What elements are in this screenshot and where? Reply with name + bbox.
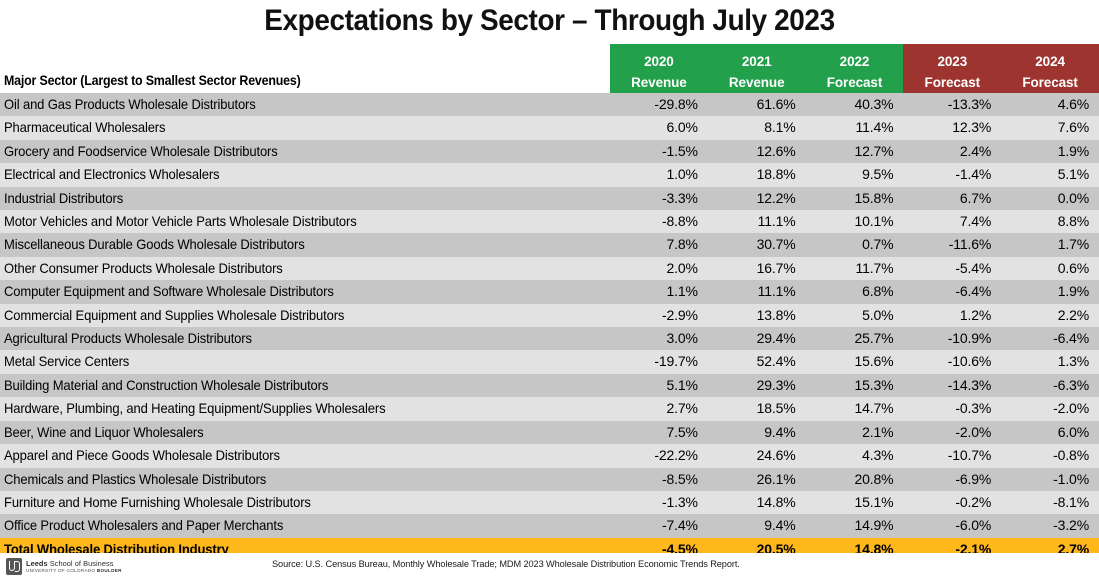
sector-label: Other Consumer Products Wholesale Distri… [4,257,283,280]
table-row: Furniture and Home Furnishing Wholesale … [0,491,1099,514]
sector-label: Oil and Gas Products Wholesale Distribut… [4,93,256,116]
cell-value-2024: 5.1% [1001,163,1099,186]
cu-buffalo-mark-icon [6,558,22,575]
sector-label: Building Material and Construction Whole… [4,374,328,397]
cell-sector-name: Grocery and Foodservice Wholesale Distri… [0,140,610,163]
table-row: Apparel and Piece Goods Wholesale Distri… [0,444,1099,467]
cell-value-2020: -22.2% [610,444,708,467]
sector-label: Miscellaneous Durable Goods Wholesale Di… [4,233,305,256]
column-header-2024-forecast: 2024 Forecast [1001,44,1099,93]
cell-value-2020: -1.3% [610,491,708,514]
table-row: Office Product Wholesalers and Paper Mer… [0,514,1099,537]
sector-label: Furniture and Home Furnishing Wholesale … [4,491,311,514]
cell-value-2023: -2.0% [903,421,1001,444]
cell-value-2022: 10.1% [806,210,904,233]
logo-school-rest: School of Business [48,559,114,568]
cell-value-2024: 6.0% [1001,421,1099,444]
cell-value-2020: -19.7% [610,350,708,373]
cell-sector-name: Hardware, Plumbing, and Heating Equipmen… [0,397,610,420]
cell-sector-name: Chemicals and Plastics Wholesale Distrib… [0,468,610,491]
cell-value-2024: 1.9% [1001,280,1099,303]
cell-value-2024: -2.0% [1001,397,1099,420]
cell-value-2022: 11.4% [806,116,904,139]
cell-value-2023: -6.9% [903,468,1001,491]
cell-value-2023: -13.3% [903,93,1001,116]
cell-value-2022: 25.7% [806,327,904,350]
cell-value-2024: -6.3% [1001,374,1099,397]
cell-value-2023: -1.4% [903,163,1001,186]
cell-value-2021: 13.8% [708,304,806,327]
logo-text: Leeds School of Business UNIVERSITY OF C… [26,560,122,574]
cell-value-2021: 24.6% [708,444,806,467]
column-header-sector: Major Sector (Largest to Smallest Sector… [0,44,610,93]
cell-value-2020: -7.4% [610,514,708,537]
cell-value-2023: -14.3% [903,374,1001,397]
cell-value-2022: 11.7% [806,257,904,280]
cell-sector-name: Agricultural Products Wholesale Distribu… [0,327,610,350]
sector-label: Computer Equipment and Software Wholesal… [4,280,334,303]
sector-label: Motor Vehicles and Motor Vehicle Parts W… [4,210,357,233]
cell-value-2024: 2.2% [1001,304,1099,327]
cell-value-2024: 4.6% [1001,93,1099,116]
cell-value-2020: -2.9% [610,304,708,327]
cell-sector-name: Pharmaceutical Wholesalers [0,116,610,139]
cell-value-2021: 18.5% [708,397,806,420]
header-row: Major Sector (Largest to Smallest Sector… [0,44,1099,93]
cell-sector-name: Other Consumer Products Wholesale Distri… [0,257,610,280]
logo-university-pre: UNIVERSITY OF COLORADO [26,568,97,573]
cell-sector-name: Miscellaneous Durable Goods Wholesale Di… [0,233,610,256]
table-row: Building Material and Construction Whole… [0,374,1099,397]
sector-label: Beer, Wine and Liquor Wholesalers [4,421,203,444]
table-row: Other Consumer Products Wholesale Distri… [0,257,1099,280]
cell-sector-name: Building Material and Construction Whole… [0,374,610,397]
logo-school-name: Leeds School of Business [26,560,122,567]
cell-value-2023: 1.2% [903,304,1001,327]
table-row: Pharmaceutical Wholesalers6.0%8.1%11.4%1… [0,116,1099,139]
cell-sector-name: Industrial Distributors [0,187,610,210]
sector-label: Industrial Distributors [4,187,123,210]
cell-value-2022: 15.3% [806,374,904,397]
cell-value-2020: -3.3% [610,187,708,210]
cell-value-2022: 12.7% [806,140,904,163]
cell-value-2022: 6.8% [806,280,904,303]
sector-label: Grocery and Foodservice Wholesale Distri… [4,140,278,163]
cell-value-2020: 3.0% [610,327,708,350]
cell-sector-name: Beer, Wine and Liquor Wholesalers [0,421,610,444]
column-header-2020-revenue: 2020 Revenue [610,44,708,93]
cell-value-2021: 9.4% [708,514,806,537]
cell-value-2021: 30.7% [708,233,806,256]
cell-value-2020: 1.0% [610,163,708,186]
column-header-2021-revenue: 2021 Revenue [708,44,806,93]
cell-value-2023: -0.3% [903,397,1001,420]
leeds-school-logo: Leeds School of Business UNIVERSITY OF C… [6,556,122,577]
column-header-2023-forecast: 2023 Forecast [903,44,1001,93]
sector-label: Office Product Wholesalers and Paper Mer… [4,514,283,537]
table-row: Metal Service Centers-19.7%52.4%15.6%-10… [0,350,1099,373]
cell-value-2024: -6.4% [1001,327,1099,350]
sector-label: Commercial Equipment and Supplies Wholes… [4,304,344,327]
cell-value-2020: -8.8% [610,210,708,233]
table-row: Agricultural Products Wholesale Distribu… [0,327,1099,350]
cell-value-2022: 40.3% [806,93,904,116]
sector-label: Pharmaceutical Wholesalers [4,116,165,139]
cell-value-2024: 1.7% [1001,233,1099,256]
page-title: Expectations by Sector – Through July 20… [38,2,1060,40]
cell-value-2024: 1.3% [1001,350,1099,373]
cell-value-2022: 20.8% [806,468,904,491]
cell-value-2023: -10.6% [903,350,1001,373]
table-row: Electrical and Electronics Wholesalers1.… [0,163,1099,186]
cell-sector-name: Metal Service Centers [0,350,610,373]
cell-sector-name: Office Product Wholesalers and Paper Mer… [0,514,610,537]
cell-value-2021: 11.1% [708,280,806,303]
cell-value-2021: 18.8% [708,163,806,186]
cell-value-2022: 2.1% [806,421,904,444]
cell-value-2024: -1.0% [1001,468,1099,491]
cell-value-2020: -1.5% [610,140,708,163]
cell-value-2021: 29.4% [708,327,806,350]
table-header: Major Sector (Largest to Smallest Sector… [0,44,1099,93]
cell-sector-name: Commercial Equipment and Supplies Wholes… [0,304,610,327]
cell-value-2023: 7.4% [903,210,1001,233]
cell-value-2023: 6.7% [903,187,1001,210]
cell-value-2020: -29.8% [610,93,708,116]
cell-value-2024: 7.6% [1001,116,1099,139]
cell-value-2020: -8.5% [610,468,708,491]
cell-value-2021: 16.7% [708,257,806,280]
cell-value-2024: -3.2% [1001,514,1099,537]
slide-footer: Leeds School of Business UNIVERSITY OF C… [0,553,1099,579]
cell-value-2023: -10.9% [903,327,1001,350]
cell-value-2021: 14.8% [708,491,806,514]
table-row: Motor Vehicles and Motor Vehicle Parts W… [0,210,1099,233]
cell-value-2020: 5.1% [610,374,708,397]
cell-value-2023: 12.3% [903,116,1001,139]
cell-value-2020: 2.0% [610,257,708,280]
cell-value-2023: -0.2% [903,491,1001,514]
table-row: Beer, Wine and Liquor Wholesalers7.5%9.4… [0,421,1099,444]
cell-value-2021: 52.4% [708,350,806,373]
cell-value-2021: 26.1% [708,468,806,491]
table-row: Computer Equipment and Software Wholesal… [0,280,1099,303]
cell-sector-name: Oil and Gas Products Wholesale Distribut… [0,93,610,116]
table-row: Oil and Gas Products Wholesale Distribut… [0,93,1099,116]
cell-value-2023: -10.7% [903,444,1001,467]
cell-value-2020: 6.0% [610,116,708,139]
cell-value-2021: 9.4% [708,421,806,444]
cell-value-2022: 4.3% [806,444,904,467]
cell-value-2023: -5.4% [903,257,1001,280]
cell-value-2022: 14.9% [806,514,904,537]
logo-leeds-word: Leeds [26,559,48,568]
column-header-2022-forecast: 2022 Forecast [806,44,904,93]
cell-value-2023: -11.6% [903,233,1001,256]
cell-sector-name: Motor Vehicles and Motor Vehicle Parts W… [0,210,610,233]
cell-value-2022: 15.1% [806,491,904,514]
cell-value-2023: -6.4% [903,280,1001,303]
cell-sector-name: Computer Equipment and Software Wholesal… [0,280,610,303]
cell-value-2022: 5.0% [806,304,904,327]
cell-value-2023: -6.0% [903,514,1001,537]
source-note: Source: U.S. Census Bureau, Monthly Whol… [272,559,740,570]
cell-sector-name: Electrical and Electronics Wholesalers [0,163,610,186]
cell-value-2022: 0.7% [806,233,904,256]
cell-value-2021: 29.3% [708,374,806,397]
cell-value-2024: 0.6% [1001,257,1099,280]
sector-label: Hardware, Plumbing, and Heating Equipmen… [4,397,385,420]
cell-value-2020: 2.7% [610,397,708,420]
cell-value-2022: 14.7% [806,397,904,420]
table-body: Oil and Gas Products Wholesale Distribut… [0,93,1099,561]
cell-value-2021: 12.6% [708,140,806,163]
sector-label: Chemicals and Plastics Wholesale Distrib… [4,468,266,491]
cell-value-2024: 1.9% [1001,140,1099,163]
cell-value-2024: -8.1% [1001,491,1099,514]
sector-label: Electrical and Electronics Wholesalers [4,163,219,186]
logo-university-line: UNIVERSITY OF COLORADO BOULDER [26,569,122,574]
cell-value-2022: 15.8% [806,187,904,210]
table-row: Chemicals and Plastics Wholesale Distrib… [0,468,1099,491]
sector-expectations-table: Major Sector (Largest to Smallest Sector… [0,44,1099,561]
cell-value-2020: 7.8% [610,233,708,256]
cell-value-2023: 2.4% [903,140,1001,163]
sector-label: Apparel and Piece Goods Wholesale Distri… [4,444,280,467]
cell-value-2022: 15.6% [806,350,904,373]
table-row: Grocery and Foodservice Wholesale Distri… [0,140,1099,163]
table-row: Hardware, Plumbing, and Heating Equipmen… [0,397,1099,420]
cell-value-2020: 1.1% [610,280,708,303]
cell-value-2021: 11.1% [708,210,806,233]
cell-value-2021: 12.2% [708,187,806,210]
cell-value-2024: -0.8% [1001,444,1099,467]
sector-label: Metal Service Centers [4,350,129,373]
table-row: Industrial Distributors-3.3%12.2%15.8%6.… [0,187,1099,210]
logo-university-boulder: BOULDER [97,568,122,573]
cell-value-2024: 0.0% [1001,187,1099,210]
cell-sector-name: Furniture and Home Furnishing Wholesale … [0,491,610,514]
cell-value-2021: 61.6% [708,93,806,116]
table-row: Commercial Equipment and Supplies Wholes… [0,304,1099,327]
cell-sector-name: Apparel and Piece Goods Wholesale Distri… [0,444,610,467]
cell-value-2020: 7.5% [610,421,708,444]
table-row: Miscellaneous Durable Goods Wholesale Di… [0,233,1099,256]
cell-value-2022: 9.5% [806,163,904,186]
cell-value-2024: 8.8% [1001,210,1099,233]
cell-value-2021: 8.1% [708,116,806,139]
sector-label: Agricultural Products Wholesale Distribu… [4,327,252,350]
